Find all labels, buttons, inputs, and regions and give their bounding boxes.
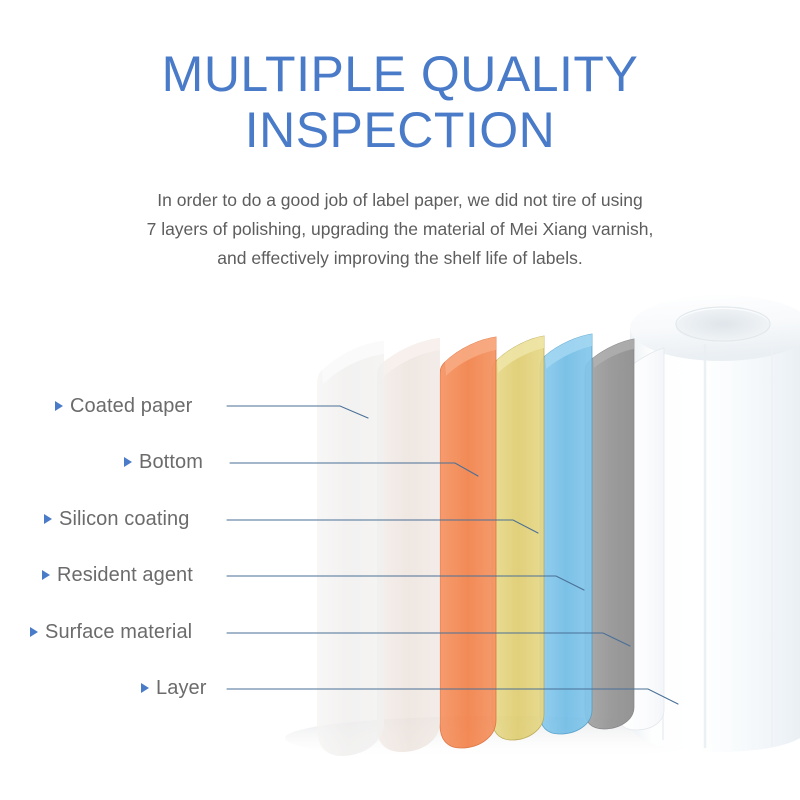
label-roll-layer-diagram bbox=[0, 270, 800, 800]
callout-silicon-coating[interactable]: Silicon coating bbox=[44, 506, 189, 532]
surface-material-layer bbox=[540, 334, 592, 734]
callout-resident-agent[interactable]: Resident agent bbox=[42, 562, 193, 588]
triangle-right-icon bbox=[124, 457, 132, 467]
callout-bottom[interactable]: Bottom bbox=[124, 449, 203, 475]
triangle-right-icon bbox=[42, 570, 50, 580]
triangle-right-icon bbox=[141, 683, 149, 693]
resident-agent-layer bbox=[492, 336, 544, 740]
page-subtitle: In order to do a good job of label paper… bbox=[60, 186, 740, 273]
triangle-right-icon bbox=[55, 401, 63, 411]
roll-core-hole bbox=[676, 309, 770, 343]
callout-label: Surface material bbox=[45, 619, 192, 645]
bottom-layer bbox=[377, 338, 440, 752]
page-title: MULTIPLE QUALITY INSPECTION bbox=[0, 46, 800, 158]
promo-banner: MULTIPLE QUALITY INSPECTION In order to … bbox=[0, 0, 800, 800]
callout-label: Bottom bbox=[139, 449, 203, 475]
callout-label: Layer bbox=[156, 675, 207, 701]
callout-label: Coated paper bbox=[70, 393, 192, 419]
triangle-right-icon bbox=[44, 514, 52, 524]
silicon-coating-layer bbox=[440, 337, 496, 748]
coated-paper-layer bbox=[317, 341, 384, 756]
callout-label: Resident agent bbox=[57, 562, 193, 588]
callout-surface-material[interactable]: Surface material bbox=[30, 619, 192, 645]
callout-coated-paper[interactable]: Coated paper bbox=[55, 393, 192, 419]
callout-label: Silicon coating bbox=[59, 506, 189, 532]
triangle-right-icon bbox=[30, 627, 38, 637]
callout-layer[interactable]: Layer bbox=[141, 675, 207, 701]
